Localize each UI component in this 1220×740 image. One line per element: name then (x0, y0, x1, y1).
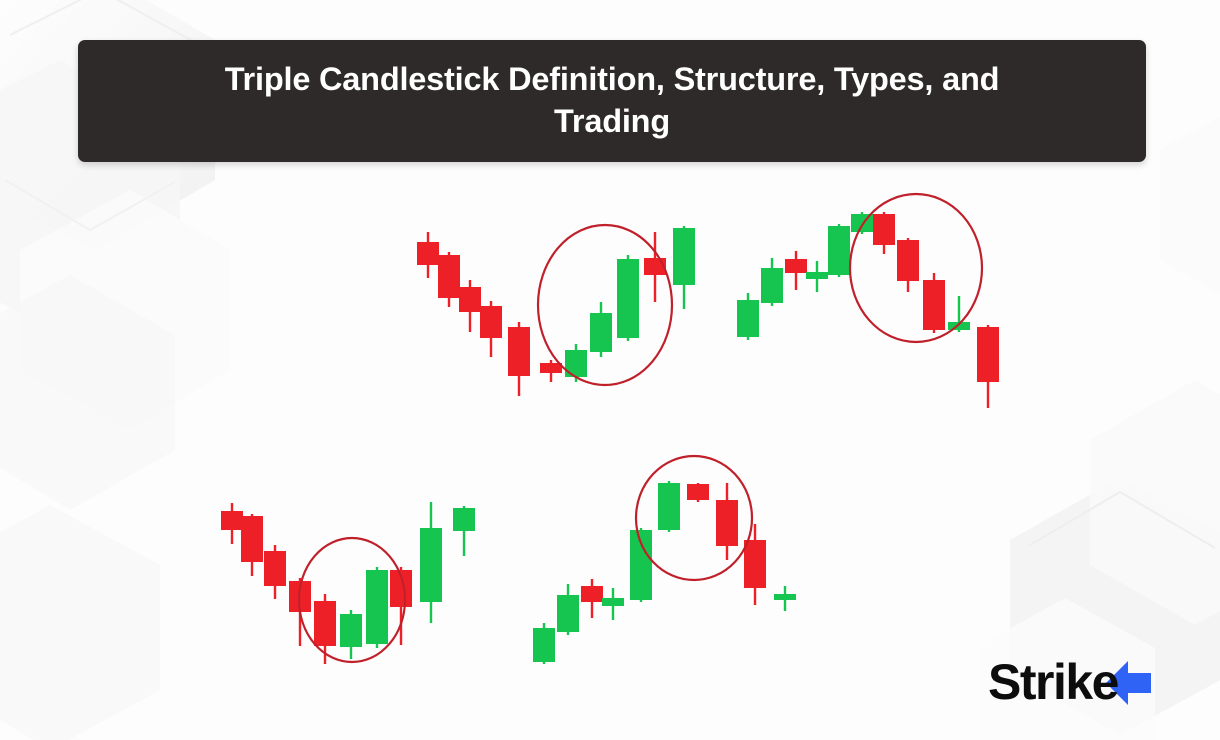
candlestick (673, 226, 695, 309)
candle-body (630, 530, 652, 600)
candlestick (366, 567, 388, 648)
candle-body (459, 287, 481, 312)
candlestick (774, 586, 796, 611)
candle-body (366, 570, 388, 644)
candle-body (644, 258, 666, 275)
candle-body (774, 594, 796, 600)
candle-body (264, 551, 286, 586)
candlestick (453, 506, 475, 556)
candle-body (314, 601, 336, 646)
candle-body (923, 280, 945, 330)
candle-body (806, 272, 828, 279)
candle-body (508, 327, 530, 376)
candle-body (617, 259, 639, 338)
candle-body (828, 226, 850, 275)
candlestick (617, 255, 639, 341)
candle-body (453, 508, 475, 531)
candle-body (977, 327, 999, 382)
candle-body (602, 598, 624, 606)
infographic-page: Triple Candlestick Definition, Structure… (0, 0, 1220, 740)
candle-body (897, 240, 919, 281)
candlestick (533, 623, 555, 664)
candlestick (480, 301, 502, 357)
candlestick (459, 280, 481, 332)
candlestick (557, 584, 579, 635)
candle-body (438, 255, 460, 298)
candlestick (897, 238, 919, 292)
candle-body (716, 500, 738, 546)
candlestick (806, 261, 828, 292)
candlestick (241, 514, 263, 576)
candlestick (785, 251, 807, 290)
candlestick (508, 322, 530, 396)
candlestick (923, 273, 945, 333)
candlestick-charts-canvas (0, 0, 1220, 740)
candle-body (744, 540, 766, 588)
candlestick (737, 293, 759, 340)
pattern-highlight-ring (538, 225, 672, 385)
candle-body (687, 484, 709, 500)
candle-body (340, 614, 362, 647)
candle-body (540, 363, 562, 373)
candlestick (590, 302, 612, 357)
candlestick (828, 224, 850, 277)
strike-logo-mark: Strike (988, 652, 1158, 714)
chart-2 (737, 194, 999, 408)
candlestick (420, 502, 442, 623)
candlestick (687, 483, 709, 502)
candle-body (673, 228, 695, 285)
candlestick (873, 212, 895, 254)
candle-body (737, 300, 759, 337)
candlestick (581, 579, 603, 618)
candlestick (716, 483, 738, 560)
candle-body (557, 595, 579, 632)
candlestick (438, 252, 460, 307)
candle-body (221, 511, 243, 530)
candle-body (417, 242, 439, 265)
chart-3 (221, 502, 475, 664)
logo-wordmark: Strike (988, 654, 1119, 710)
candlestick (602, 588, 624, 620)
candle-body (241, 516, 263, 562)
candle-body (873, 214, 895, 245)
candle-body (761, 268, 783, 303)
candlestick-chart-group (0, 0, 1220, 740)
candle-body (420, 528, 442, 602)
candlestick (977, 325, 999, 408)
chart-1 (417, 225, 695, 396)
chart-4 (533, 456, 796, 664)
candlestick (761, 258, 783, 306)
candle-body (581, 586, 603, 602)
candle-body (785, 259, 807, 273)
candlestick (417, 232, 439, 278)
candlestick (744, 524, 766, 605)
candlestick (340, 610, 362, 659)
candlestick (264, 545, 286, 599)
candle-body (658, 483, 680, 530)
brand-logo[interactable]: Strike (988, 652, 1158, 714)
candlestick (221, 503, 243, 544)
candlestick (658, 481, 680, 532)
candle-body (480, 306, 502, 338)
candlestick (630, 528, 652, 602)
candle-body (590, 313, 612, 352)
candle-body (533, 628, 555, 662)
